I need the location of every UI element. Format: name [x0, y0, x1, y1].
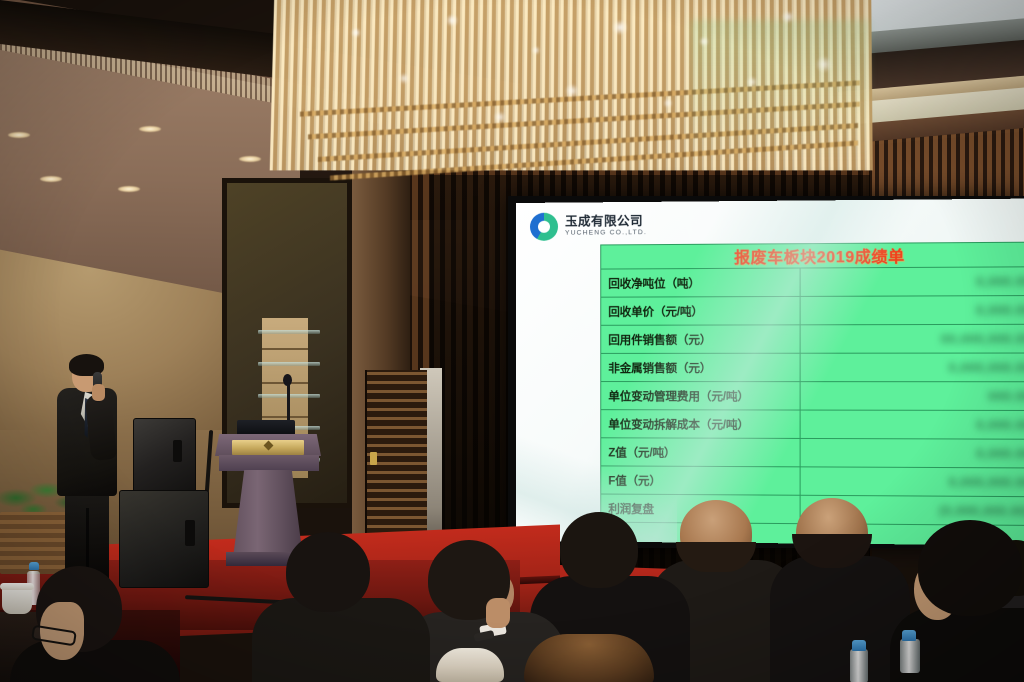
audience-member-foreground [10, 566, 180, 682]
table-row-label: Z值（元/吨） [601, 438, 800, 466]
censored-value: (0,000,000.00) [939, 503, 1024, 518]
pa-speaker-port [173, 440, 182, 462]
projection-screen: 玉成有限公司 YUCHENG CO.,LTD. 报废车板块2019成绩单 回收净… [516, 199, 1024, 546]
table-row-value: 0,000,000.00 [801, 354, 1024, 382]
bottle-cap [902, 630, 916, 641]
bottle-body [850, 649, 868, 682]
pa-speaker-port [185, 520, 195, 546]
table-row-value: 0,000.00 [801, 439, 1024, 468]
audience-member [770, 498, 910, 682]
table-row: 回收单价（元/吨）0,000.00 [601, 296, 1024, 326]
niche-stack-line [262, 416, 308, 418]
presenter [52, 358, 142, 588]
downlight-icon [139, 126, 161, 132]
censored-value: 0,000.00 [976, 418, 1024, 432]
audience-head [918, 520, 1022, 616]
table-row: 回收净吨位（吨）0,000.00 [601, 267, 1024, 297]
downlight-icon [239, 156, 261, 162]
censored-value: 0,000.00 [976, 274, 1024, 289]
table-row-label: 单位变动管理费用（元/吨） [601, 382, 800, 409]
podium-plaque [232, 440, 304, 455]
table-row: 非金属销售额（元）0,000,000.00 [601, 354, 1024, 383]
audience-shoulders [770, 556, 910, 682]
table-row-value: 0,000.00 [801, 267, 1024, 296]
table-row: Z值（元/吨）0,000.00 [601, 438, 1024, 468]
chair-back [436, 648, 504, 682]
bottle-body [900, 639, 920, 673]
downlight-icon [118, 186, 140, 192]
table-row-label: 单位变动拆解成本（元/吨） [601, 410, 800, 438]
conference-photo: 玉成有限公司 YUCHENG CO.,LTD. 报废车板块2019成绩单 回收净… [0, 0, 1024, 682]
table-title-row: 报废车板块2019成绩单 [601, 243, 1024, 270]
table-body: 回收净吨位（吨）0,000.00回收单价（元/吨）0,000.00回用件销售额（… [601, 267, 1024, 526]
logo-company-en: YUCHENG CO.,LTD. [565, 230, 647, 238]
plaque-diamond-icon [263, 441, 273, 451]
yucheng-logo-icon [530, 213, 558, 241]
slide-title: 报废车板块2019成绩单 [734, 244, 905, 267]
audience-member [252, 532, 430, 682]
bottle-cap [852, 640, 866, 651]
podium-midsection [219, 455, 319, 471]
table-row: 单位变动拆解成本（元/吨）0,000.00 [601, 410, 1024, 440]
niche-stack-line [262, 348, 308, 350]
table-row-label: 回用件销售额（元） [601, 325, 800, 353]
logo-company-cn: 玉成有限公司 [565, 215, 647, 229]
censored-value: 0,000.00 [976, 303, 1024, 318]
chandelier-green-tint [690, 20, 870, 160]
audience-head [560, 512, 638, 588]
table-row: F值（元）0,000,000.00 [601, 466, 1024, 497]
table-row: 回用件销售额（元）00,000,000.00 [601, 325, 1024, 354]
glass-shelf [258, 362, 320, 366]
downlight-icon [40, 176, 62, 182]
glass-shelf [258, 330, 320, 334]
table-row: 单位变动管理费用（元/吨）000.00 [601, 382, 1024, 411]
table-row-value: 0,000,000.00 [801, 467, 1024, 496]
table-row-value: 0,000.00 [801, 296, 1024, 324]
water-bottle [900, 630, 920, 682]
censored-value: 0,000,000.00 [949, 360, 1024, 374]
audience-hair [524, 634, 654, 682]
table-row-label: F值（元） [601, 466, 800, 494]
censored-value: 000.00 [988, 389, 1024, 403]
table-row-label: 回收净吨位（吨） [601, 269, 800, 297]
water-bottle [850, 640, 868, 682]
table-row-label: 回收单价（元/吨） [601, 297, 800, 325]
table-row-value: 0,000.00 [801, 411, 1024, 439]
slide-logo: 玉成有限公司 YUCHENG CO.,LTD. [530, 212, 647, 241]
table-row-value: 00,000,000.00 [801, 325, 1024, 353]
door-handle-icon [370, 452, 377, 465]
censored-value: 0,000.00 [976, 446, 1024, 461]
pa-speaker-top [133, 418, 196, 494]
logo-text-block: 玉成有限公司 YUCHENG CO.,LTD. [565, 215, 647, 237]
presenter-hand [92, 384, 105, 401]
audience-member-foreground [524, 634, 654, 682]
audience-hand [486, 598, 510, 628]
censored-value: 00,000,000.00 [941, 331, 1024, 345]
downlight-icon [8, 132, 30, 138]
table-row-label: 非金属销售额（元） [601, 354, 800, 381]
table-row-value: 000.00 [801, 382, 1024, 410]
censored-value: 0,000,000.00 [949, 475, 1024, 490]
audience-head [286, 532, 370, 612]
